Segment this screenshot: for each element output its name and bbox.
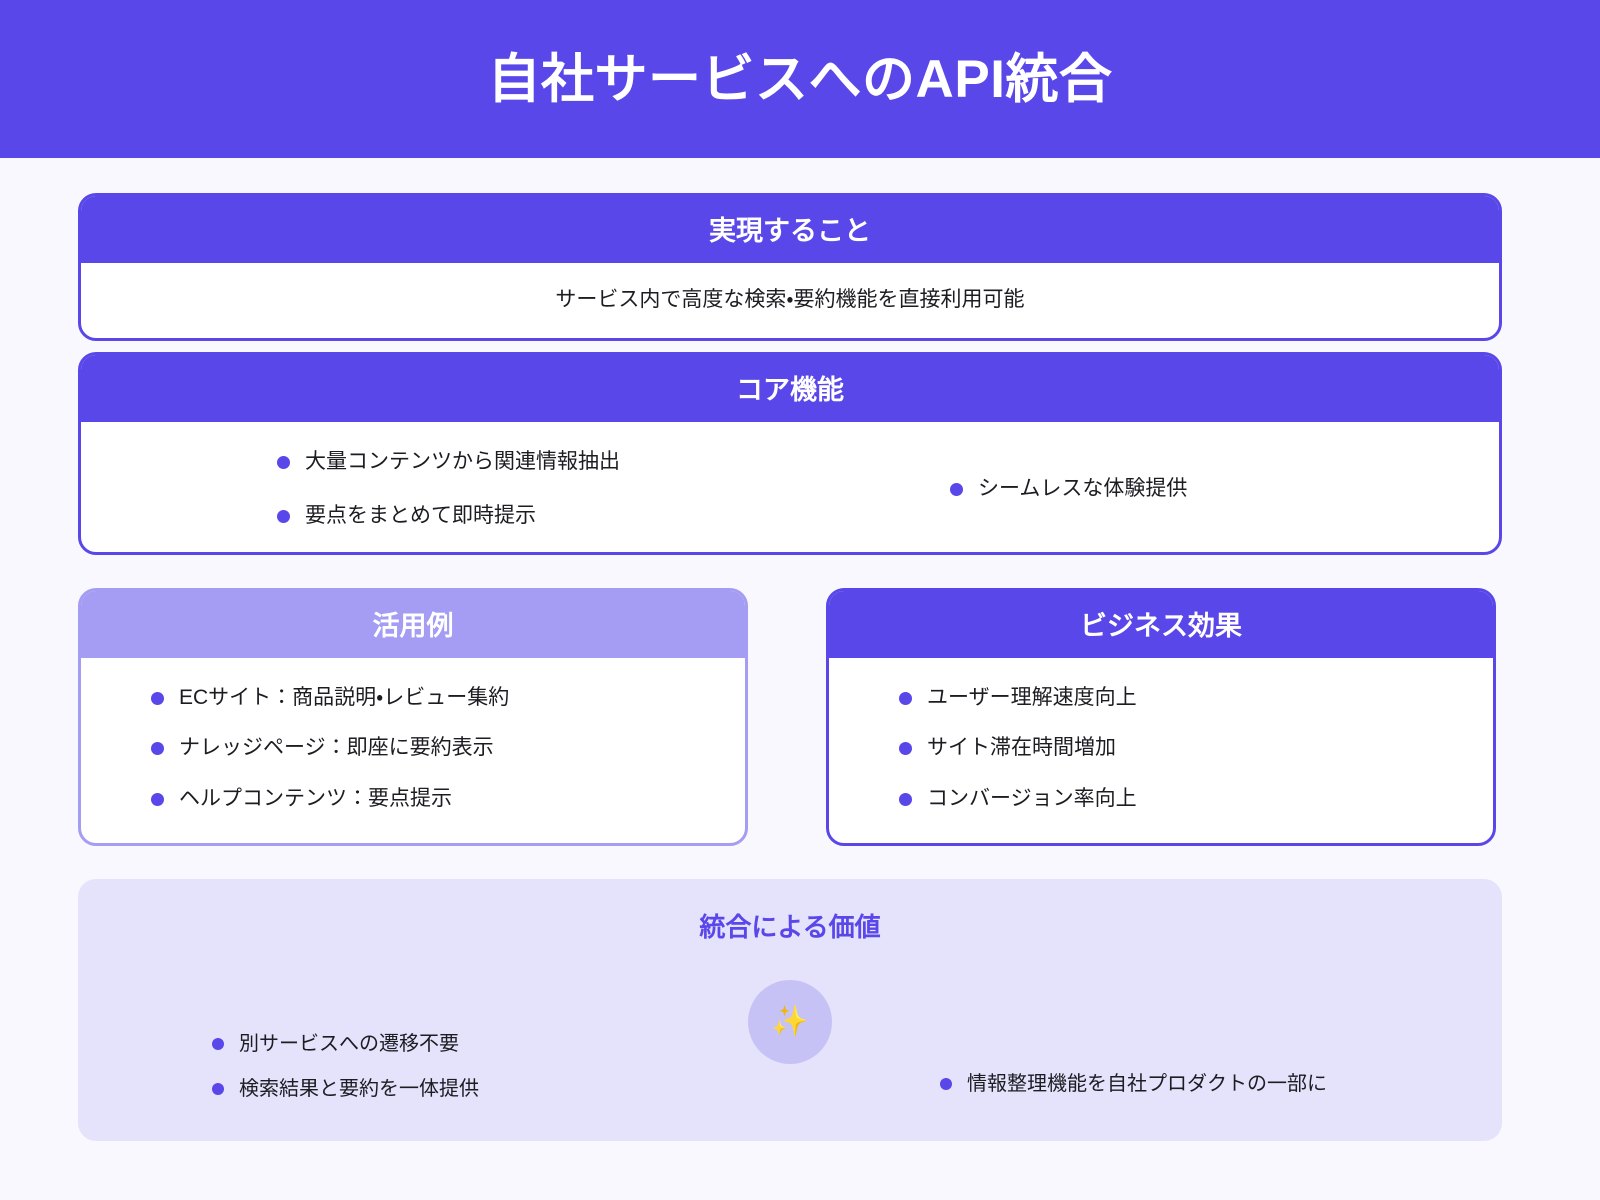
list-item: 検索結果と要約を一体提供: [212, 1076, 479, 1103]
core-column-left: 大量コンテンツから関連情報抽出 要点をまとめて即時提示: [81, 440, 790, 538]
list-item: 情報整理機能を自社プロダクトの一部に: [940, 1071, 1327, 1098]
realize-card-title: 実現すること: [80, 195, 1500, 263]
bullet-dot-icon: [940, 1078, 952, 1090]
bullet-dot-icon: [151, 742, 164, 755]
list-item: 別サービスへの遷移不要: [212, 1031, 479, 1058]
list-item: コンバージョン率向上: [899, 785, 1467, 813]
business-impact-card: ビジネス効果 ユーザー理解速度向上 サイト滞在時間増加 コンバージョン率向上: [826, 588, 1496, 846]
bullet-dot-icon: [950, 483, 963, 496]
list-item: 要点をまとめて即時提示: [277, 502, 790, 530]
business-impact-card-title: ビジネス効果: [828, 590, 1494, 658]
core-column-right: シームレスな体験提供: [790, 440, 1499, 538]
realize-lead-text: サービス内で高度な検索・要約機能を直接利用可能: [81, 263, 1499, 338]
use-cases-card: 活用例 ECサイト：商品説明・レビュー集約 ナレッジページ：即座に要約表示 ヘル…: [78, 588, 748, 846]
list-item-label: コンバージョン率向上: [927, 785, 1137, 813]
bullet-dot-icon: [151, 692, 164, 705]
bullet-dot-icon: [277, 456, 290, 469]
page-title: 自社サービスへのAPI統合: [488, 53, 1113, 106]
list-item: ECサイト：商品説明・レビュー集約: [151, 684, 719, 712]
bullet-dot-icon: [151, 793, 164, 806]
section-core-features: コア機能 大量コンテンツから関連情報抽出 要点をまとめて即時提示 シーム: [78, 352, 1502, 555]
list-item: サイト滞在時間増加: [899, 734, 1467, 762]
section-mid-row: 活用例 ECサイト：商品説明・レビュー集約 ナレッジページ：即座に要約表示 ヘル…: [78, 588, 1502, 846]
list-item-label: 情報整理機能を自社プロダクトの一部に: [967, 1071, 1327, 1098]
list-item: ヘルプコンテンツ：要点提示: [151, 785, 719, 813]
use-cases-list: ECサイト：商品説明・レビュー集約 ナレッジページ：即座に要約表示 ヘルプコンテ…: [151, 684, 719, 813]
slide-root: 自社サービスへのAPI統合 実現すること サービス内で高度な検索・要約機能を直接…: [0, 0, 1600, 1200]
section-integration-value: 統合による価値 ✨ 別サービスへの遷移不要 検索結果と要約を一体提供 情報整理機…: [78, 879, 1502, 1141]
integration-value-columns: 別サービスへの遷移不要 検索結果と要約を一体提供 情報整理機能を自社プロダクトの…: [78, 879, 1502, 1141]
list-item-label: ユーザー理解速度向上: [927, 684, 1137, 712]
core-card: コア機能 大量コンテンツから関連情報抽出 要点をまとめて即時提示 シーム: [78, 352, 1502, 555]
list-item: シームレスな体験提供: [950, 475, 1499, 503]
core-card-title: コア機能: [80, 354, 1500, 422]
business-impact-list: ユーザー理解速度向上 サイト滞在時間増加 コンバージョン率向上: [899, 684, 1467, 813]
list-item-label: サイト滞在時間増加: [927, 734, 1116, 762]
list-item-label: ナレッジページ：即座に要約表示: [179, 734, 494, 762]
list-item-label: シームレスな体験提供: [978, 475, 1187, 503]
use-cases-card-title: 活用例: [80, 590, 746, 658]
integration-value-column-right: 情報整理機能を自社プロダクトの一部に: [940, 1071, 1327, 1098]
list-item-label: 別サービスへの遷移不要: [239, 1031, 459, 1058]
bullet-dot-icon: [212, 1038, 224, 1050]
bullet-dot-icon: [277, 510, 290, 523]
list-item-label: 検索結果と要約を一体提供: [239, 1076, 479, 1103]
section-realize: 実現すること サービス内で高度な検索・要約機能を直接利用可能: [78, 193, 1502, 341]
realize-card: 実現すること サービス内で高度な検索・要約機能を直接利用可能: [78, 193, 1502, 341]
slide-header: 自社サービスへのAPI統合: [0, 0, 1600, 158]
list-item: ユーザー理解速度向上: [899, 684, 1467, 712]
list-item: 大量コンテンツから関連情報抽出: [277, 448, 790, 476]
bullet-dot-icon: [899, 793, 912, 806]
list-item-label: ECサイト：商品説明・レビュー集約: [179, 684, 509, 712]
core-columns: 大量コンテンツから関連情報抽出 要点をまとめて即時提示 シームレスな体験提供: [81, 422, 1499, 552]
bullet-dot-icon: [899, 692, 912, 705]
integration-value-column-left: 別サービスへの遷移不要 検索結果と要約を一体提供: [212, 1031, 479, 1103]
list-item-label: ヘルプコンテンツ：要点提示: [179, 785, 452, 813]
list-item: ナレッジページ：即座に要約表示: [151, 734, 719, 762]
list-item-label: 大量コンテンツから関連情報抽出: [305, 448, 620, 476]
bullet-dot-icon: [899, 742, 912, 755]
business-impact-card-body: ユーザー理解速度向上 サイト滞在時間増加 コンバージョン率向上: [829, 658, 1493, 843]
list-item-label: 要点をまとめて即時提示: [305, 502, 536, 530]
bullet-dot-icon: [212, 1083, 224, 1095]
use-cases-card-body: ECサイト：商品説明・レビュー集約 ナレッジページ：即座に要約表示 ヘルプコンテ…: [81, 658, 745, 843]
